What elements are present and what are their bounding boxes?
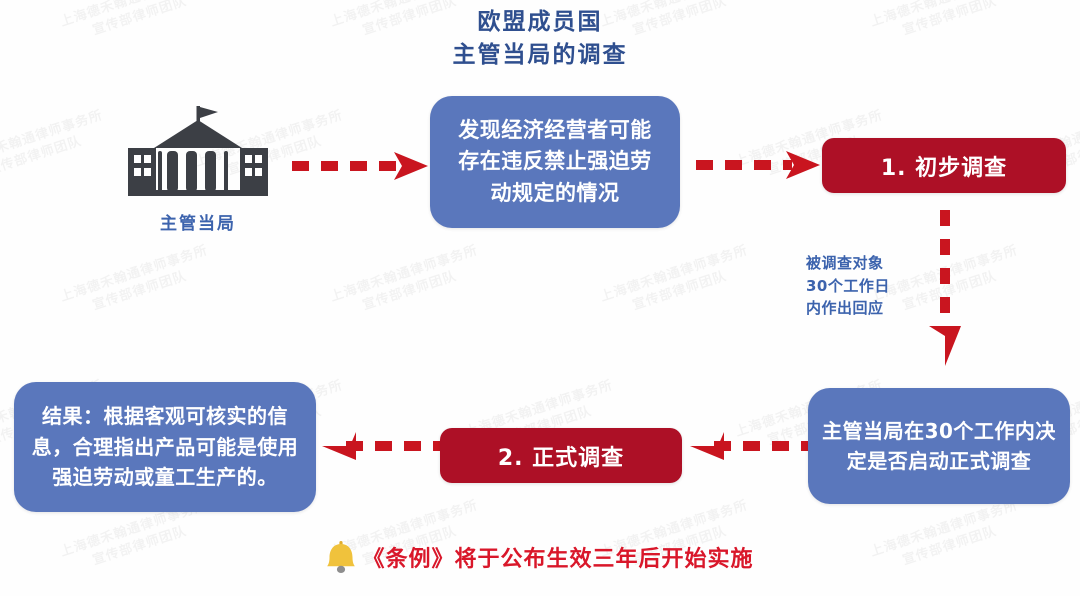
- step1-label: 1. 初步调查: [881, 150, 1007, 182]
- finding-box-text: 发现经济经营者可能存在违反禁止强迫劳动规定的情况: [448, 115, 662, 210]
- response-line-2: 30个工作日: [806, 275, 931, 298]
- footer-note: 《条例》将于公布生效三年后开始实施: [0, 540, 1080, 574]
- authority-label: 主管当局: [118, 209, 278, 234]
- arrow-step2-to-result: [322, 428, 444, 464]
- decision-box: 主管当局在30个工作内决定是否启动正式调查: [808, 388, 1070, 504]
- finding-box: 发现经济经营者可能存在违反禁止强迫劳动规定的情况: [430, 96, 680, 228]
- result-box: 结果：根据客观可核实的信息，合理指出产品可能是使用强迫劳动或童工生产的。: [14, 382, 316, 512]
- diagram-canvas: 上海德禾翰通律师事务所宣传部律师团队上海德禾翰通律师事务所宣传部律师团队上海德禾…: [0, 0, 1080, 596]
- step2-formal-investigation-box: 2. 正式调查: [440, 428, 682, 483]
- response-line-3: 内作出回应: [806, 297, 931, 320]
- government-building-icon: [118, 104, 278, 199]
- response-deadline-label: 被调查对象 30个工作日 内作出回应: [806, 252, 931, 320]
- step1-preliminary-investigation-box: 1. 初步调查: [822, 138, 1066, 193]
- watermark-text: 上海德禾翰通律师事务所宣传部律师团队: [328, 242, 485, 323]
- decision-box-text: 主管当局在30个工作内决定是否启动正式调查: [822, 416, 1056, 476]
- authority-group: 主管当局: [118, 104, 278, 234]
- footer-text: 《条例》将于公布生效三年后开始实施: [362, 541, 753, 573]
- watermark-text: 上海德禾翰通律师事务所宣传部律师团队: [598, 242, 755, 323]
- bell-icon: [326, 540, 356, 574]
- page-title: 欧盟成员国 主管当局的调查: [0, 6, 1080, 71]
- title-line-1: 欧盟成员国: [0, 6, 1080, 39]
- watermark-text: 上海德禾翰通律师事务所宣传部律师团队: [0, 107, 111, 188]
- step2-label: 2. 正式调查: [498, 440, 624, 472]
- arrow-finding-to-step1: [694, 147, 828, 183]
- response-line-1: 被调查对象: [806, 252, 931, 275]
- title-line-2: 主管当局的调查: [0, 39, 1080, 72]
- arrow-decision-to-step2: [690, 428, 814, 464]
- result-box-text: 结果：根据客观可核实的信息，合理指出产品可能是使用强迫劳动或童工生产的。: [28, 401, 302, 492]
- arrow-authority-to-finding: [288, 148, 436, 184]
- watermark-text: 上海德禾翰通律师事务所宣传部律师团队: [58, 242, 215, 323]
